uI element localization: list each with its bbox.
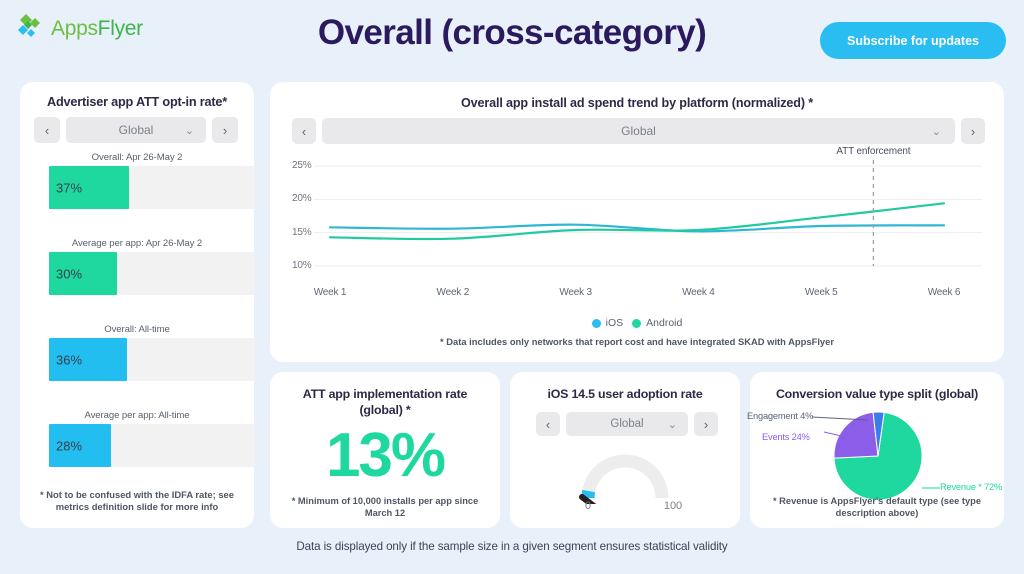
bar-track-2: 36% — [49, 338, 255, 381]
left-region-dropdown[interactable]: Global ⌄ — [66, 117, 206, 143]
adoption-region-value: Global — [610, 418, 643, 430]
conversion-value-note: * Revenue is AppsFlyer's default type (s… — [758, 495, 996, 520]
legend-item-android: Android — [632, 317, 682, 329]
chart-region-selector[interactable]: ‹ Global ⌄ › — [292, 118, 985, 144]
chart-prev-arrow-icon[interactable]: ‹ — [292, 118, 316, 144]
x-tick-5: Week 5 — [805, 287, 838, 298]
bar-label-0: Overall: Apr 26-May 2 — [20, 152, 254, 163]
left-prev-arrow-icon[interactable]: ‹ — [34, 117, 60, 143]
ios-adoption-card: iOS 14.5 user adoption rate ‹ Global ⌄ ›… — [510, 372, 740, 528]
ad-spend-trend-footnote: * Data includes only networks that repor… — [270, 336, 1004, 347]
adoption-gauge: 0 100 — [510, 442, 740, 522]
legend-label: iOS — [606, 317, 624, 329]
gauge-max-label: 100 — [664, 500, 682, 512]
page-header: AppsFlyer Overall (cross-category) Subsc… — [0, 0, 1024, 80]
x-tick-6: Week 6 — [928, 287, 961, 298]
conversion-pie-wrap: Revenue * 72% Events 24% Engagement 4% — [750, 404, 1004, 504]
pie-label-engagement: Engagement 4% — [747, 411, 813, 421]
pie-label-events: Events 24% — [762, 432, 810, 442]
chart-legend: iOSAndroid — [270, 317, 1004, 329]
gauge-svg — [510, 442, 740, 504]
chart-region-dropdown[interactable]: Global ⌄ — [322, 118, 955, 144]
bar-label-3: Average per app: All-time — [20, 410, 254, 421]
x-tick-3: Week 3 — [559, 287, 592, 298]
att-implementation-card: ATT app implementation rate (global) * 1… — [270, 372, 500, 528]
bar-label-2: Overall: All-time — [20, 324, 254, 335]
pie-label-revenue: Revenue * 72% — [940, 482, 1002, 492]
legend-dot-icon — [592, 319, 601, 328]
bar-fill-0: 37% — [49, 166, 129, 209]
y-tick-20%: 20% — [292, 193, 311, 204]
y-tick-10%: 10% — [292, 260, 311, 271]
advertiser-att-optin-card: Advertiser app ATT opt-in rate* ‹ Global… — [20, 82, 254, 528]
left-region-selector[interactable]: ‹ Global ⌄ › — [34, 117, 238, 143]
advertiser-att-optin-note: * Not to be confused with the IDFA rate;… — [34, 489, 240, 514]
legend-item-ios: iOS — [592, 317, 624, 329]
legend-label: Android — [646, 317, 682, 329]
subscribe-for-updates-button[interactable]: Subscribe for updates — [820, 22, 1006, 59]
chart-next-arrow-icon[interactable]: › — [961, 118, 985, 144]
bar-label-1: Average per app: Apr 26-May 2 — [20, 238, 254, 249]
x-tick-4: Week 4 — [682, 287, 715, 298]
legend-dot-icon — [632, 319, 641, 328]
x-tick-2: Week 2 — [437, 287, 470, 298]
adoption-region-dropdown[interactable]: Global ⌄ — [566, 412, 688, 436]
conversion-value-title: Conversion value type split (global) — [762, 386, 992, 402]
bar-value-0: 37% — [56, 180, 82, 195]
advertiser-att-optin-title: Advertiser app ATT opt-in rate* — [20, 95, 254, 109]
bar-value-2: 36% — [56, 352, 82, 367]
x-tick-1: Week 1 — [314, 287, 347, 298]
chevron-down-icon: ⌄ — [185, 124, 194, 137]
line-chart-svg — [292, 156, 982, 284]
bar-fill-3: 28% — [49, 424, 111, 467]
y-tick-25%: 25% — [292, 160, 311, 171]
ad-spend-trend-title: Overall app install ad spend trend by pl… — [270, 96, 1004, 110]
adoption-prev-arrow-icon[interactable]: ‹ — [536, 412, 560, 436]
att-implementation-title: ATT app implementation rate (global) * — [282, 386, 488, 419]
left-region-value: Global — [119, 123, 154, 137]
bar-value-1: 30% — [56, 266, 82, 281]
y-tick-15%: 15% — [292, 227, 311, 238]
bar-track-0: 37% — [49, 166, 255, 209]
bar-track-3: 28% — [49, 424, 255, 467]
left-next-arrow-icon[interactable]: › — [212, 117, 238, 143]
dashboard-page: AppsFlyer Overall (cross-category) Subsc… — [0, 0, 1024, 574]
bar-fill-2: 36% — [49, 338, 127, 381]
bar-value-3: 28% — [56, 438, 82, 453]
ios-adoption-title: iOS 14.5 user adoption rate — [522, 386, 728, 402]
att-implementation-value: 13% — [270, 420, 500, 491]
conversion-value-card: Conversion value type split (global) Rev… — [750, 372, 1004, 528]
bar-fill-1: 30% — [49, 252, 117, 295]
chevron-down-icon: ⌄ — [932, 125, 941, 138]
adoption-region-selector[interactable]: ‹ Global ⌄ › — [536, 412, 718, 436]
ad-spend-trend-card: Overall app install ad spend trend by pl… — [270, 82, 1004, 362]
footer-note: Data is displayed only if the sample siz… — [0, 540, 1024, 553]
att-enforcement-annotation: ATT enforcement — [836, 146, 910, 157]
chevron-down-icon: ⌄ — [668, 418, 677, 431]
chart-region-value: Global — [621, 124, 656, 138]
gauge-min-label: 0 — [585, 500, 591, 512]
att-implementation-note: * Minimum of 10,000 installs per app sin… — [278, 495, 492, 520]
line-chart-plot: 10%15%20%25% Week 1Week 2Week 3Week 4Wee… — [292, 156, 982, 301]
adoption-next-arrow-icon[interactable]: › — [694, 412, 718, 436]
bar-track-1: 30% — [49, 252, 255, 295]
